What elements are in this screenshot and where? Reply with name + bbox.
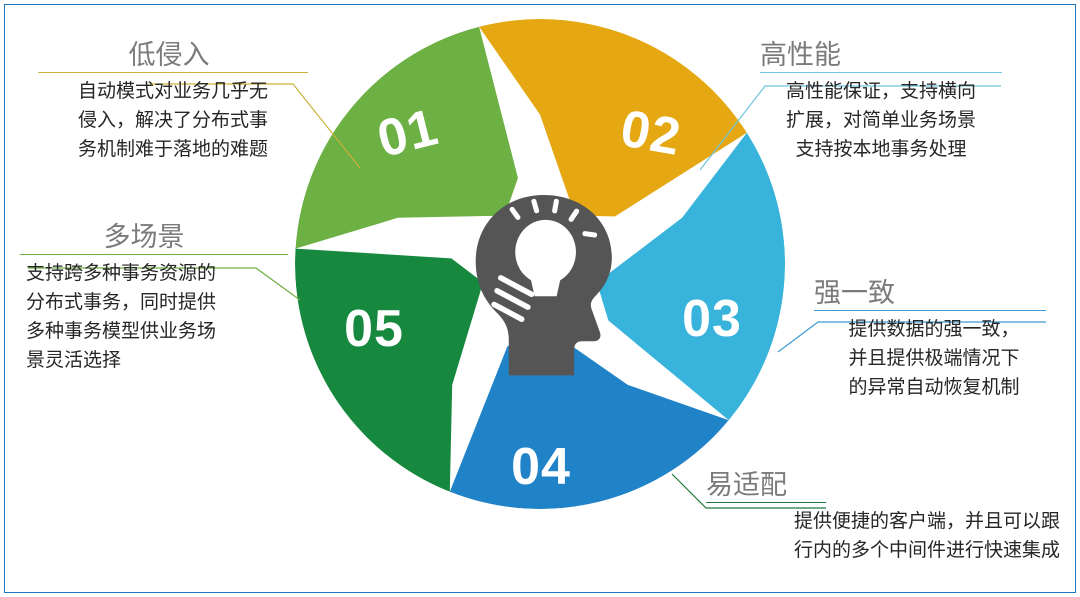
callout-05-rule — [20, 254, 288, 255]
callout-03[interactable]: 强一致 提供数据的强一致， 并且提供极端情况下 的异常自动恢复机制 — [800, 278, 1065, 403]
callout-03-body: 提供数据的强一致， 并且提供极端情况下 的异常自动恢复机制 — [800, 316, 1058, 403]
callout-04-title: 易适配 — [690, 470, 1060, 500]
callout-05-title: 多场景 — [20, 222, 288, 252]
segment-number-05: 05 — [344, 300, 404, 358]
callout-03-rule — [814, 310, 1046, 311]
callout-04[interactable]: 易适配 提供便捷的客户端，并且可以跟 行内的多个中间件进行快速集成 — [690, 470, 1060, 566]
callout-02[interactable]: 高性能 高性能保证，支持横向 扩展，对简单业务场景 支持按本地事务处理 — [760, 40, 1050, 165]
callout-02-title: 高性能 — [760, 40, 1050, 70]
segment-number-02: 02 — [616, 100, 685, 168]
callout-01-title: 低侵入 — [38, 40, 308, 70]
callout-01[interactable]: 低侵入 自动模式对业务几乎无 侵入，解决了分布式事 务机制难于落地的难题 — [38, 40, 308, 165]
slide-canvas: 0102030405 低侵入 自动模式对业务几乎无 侵入，解决了分布式事 务机制… — [0, 0, 1080, 597]
segment-number-04: 04 — [511, 438, 571, 496]
callout-01-body: 自动模式对业务几乎无 侵入，解决了分布式事 务机制难于落地的难题 — [38, 78, 308, 165]
segment-number-03: 03 — [682, 290, 742, 348]
callout-01-rule — [38, 72, 308, 73]
callout-04-rule — [706, 502, 826, 503]
callout-02-rule — [760, 72, 1002, 73]
callout-03-title: 强一致 — [800, 278, 1065, 308]
callout-04-body: 提供便捷的客户端，并且可以跟 行内的多个中间件进行快速集成 — [690, 508, 1060, 566]
callout-05-body: 支持跨多种事务资源的 分布式事务，同时提供 多种事务模型供业务场 景灵活选择 — [20, 260, 288, 376]
callout-05[interactable]: 多场景 支持跨多种事务资源的 分布式事务，同时提供 多种事务模型供业务场 景灵活… — [20, 222, 288, 376]
callout-02-body: 高性能保证，支持横向 扩展，对简单业务场景 支持按本地事务处理 — [760, 78, 1002, 165]
